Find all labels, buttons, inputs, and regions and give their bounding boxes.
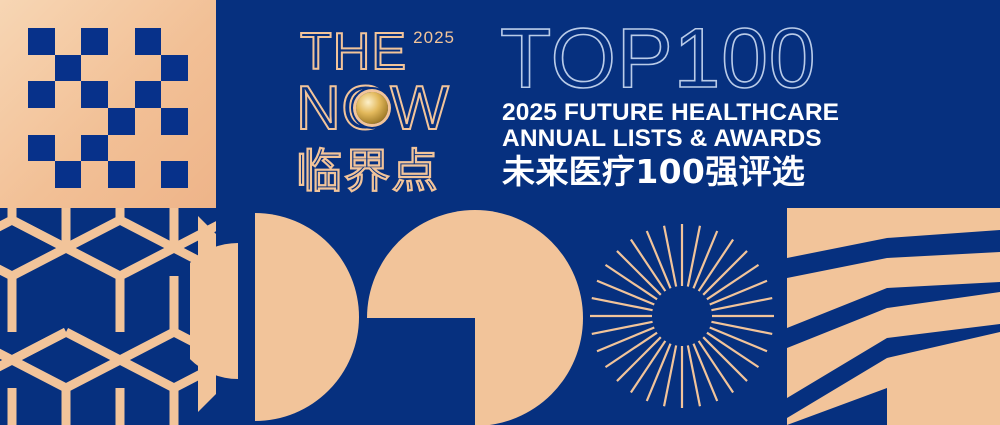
checkerboard-cell: [81, 161, 108, 188]
checkerboard-cell: [55, 55, 82, 82]
checkerboard-cell: [81, 55, 108, 82]
headline-cn-line: 未来医疗100强评选: [502, 155, 839, 190]
checkerboard-grid: [28, 28, 188, 188]
checkerboard-cell: [55, 81, 82, 108]
hexagon-lattice-pattern: [0, 208, 216, 425]
checkerboard-cell: [28, 81, 55, 108]
logo-chinese-row: 临界点: [296, 148, 440, 194]
checkerboard-cell: [28, 108, 55, 135]
checkerboard-cell: [161, 108, 188, 135]
starburst-pattern: [590, 208, 775, 425]
checkerboard-cell: [55, 161, 82, 188]
checkerboard-cell: [108, 28, 135, 55]
checkerboard-cell: [135, 108, 162, 135]
the-now-logo: THE 2025 NOW 临界点: [296, 22, 486, 192]
checkerboard-cell: [161, 161, 188, 188]
headline-block: TOP100 2025 FUTURE HEALTHCARE ANNUAL LIS…: [500, 22, 850, 197]
headline-en-line2: ANNUAL LISTS & AWARDS: [502, 126, 839, 152]
checkerboard-cell: [135, 161, 162, 188]
checkerboard-cell: [135, 28, 162, 55]
checkerboard-cell: [108, 81, 135, 108]
headline-text-wrap: 2025 FUTURE HEALTHCARE ANNUAL LISTS & AW…: [502, 100, 839, 190]
logo-the-row: THE 2025: [300, 26, 455, 78]
checkerboard-cell: [108, 161, 135, 188]
checkerboard-cell: [81, 81, 108, 108]
checkerboard-cell: [135, 55, 162, 82]
diagonal-stripes-pattern: [775, 200, 1000, 425]
checkerboard-cell: [55, 135, 82, 162]
checkerboard-cell: [81, 135, 108, 162]
checkerboard-cell: [161, 55, 188, 82]
checkerboard-cell: [81, 28, 108, 55]
checkerboard-cell: [55, 108, 82, 135]
checkerboard-cell: [28, 135, 55, 162]
logo-chinese-text: 临界点: [296, 144, 440, 198]
checkerboard-cell: [28, 28, 55, 55]
checkerboard-cell: [81, 108, 108, 135]
poster-canvas: THE 2025 NOW 临界点 TOP100 2025 FUTURE HEAL…: [0, 0, 1000, 425]
gold-sphere-icon: [356, 92, 388, 124]
checkerboard-cell: [28, 161, 55, 188]
checkerboard-cell: [108, 108, 135, 135]
checkerboard-cell: [55, 28, 82, 55]
checkerboard-cell: [28, 55, 55, 82]
checkerboard-cell: [108, 55, 135, 82]
checkerboard-cell: [161, 28, 188, 55]
logo-the-text: THE: [300, 26, 407, 78]
logo-now-row: NOW: [296, 78, 449, 140]
checkerboard-cell: [135, 135, 162, 162]
semicircle-disc-group: [190, 208, 590, 425]
checkerboard-cell: [161, 135, 188, 162]
logo-year-text: 2025: [413, 28, 455, 48]
checkerboard-cell: [161, 81, 188, 108]
checkerboard-cell: [135, 81, 162, 108]
headline-en-line1: 2025 FUTURE HEALTHCARE: [502, 100, 839, 126]
checkerboard-cell: [108, 135, 135, 162]
headline-top100: TOP100: [500, 22, 850, 96]
checkerboard-pattern: [0, 0, 216, 208]
